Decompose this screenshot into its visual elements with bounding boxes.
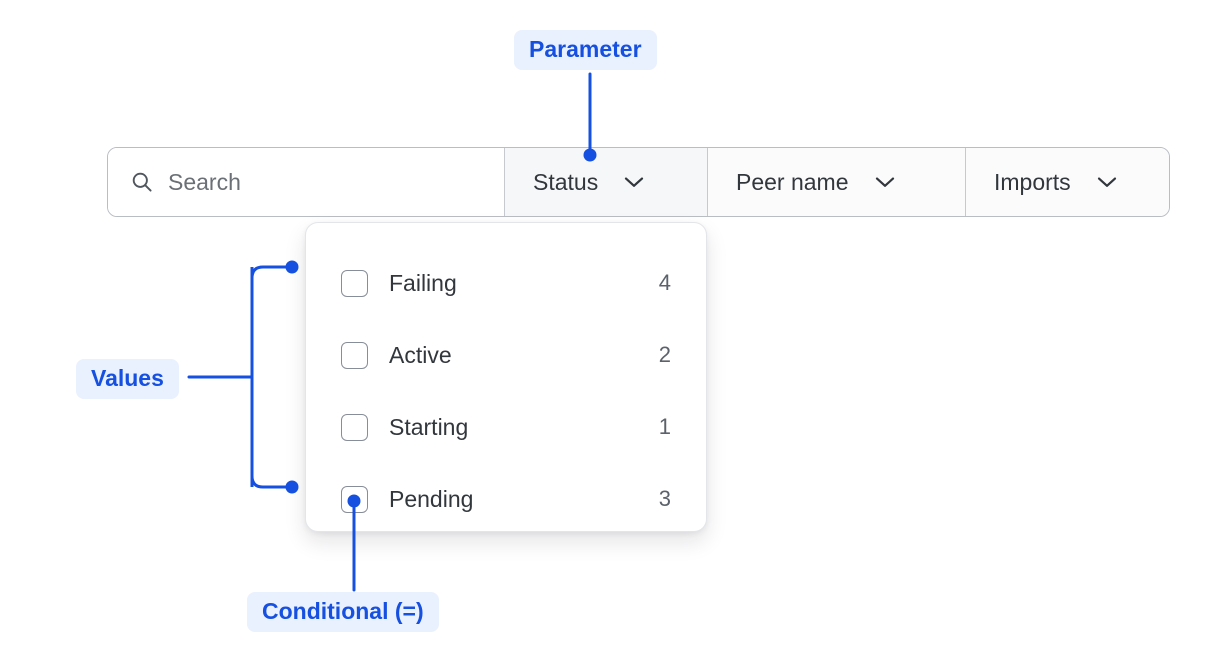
search-field[interactable] [108,148,504,216]
filter-label-imports: Imports [994,169,1071,196]
checkbox-active[interactable] [341,342,368,369]
dropdown-option-failing[interactable]: Failing 4 [306,247,706,319]
search-icon [131,171,153,193]
chevron-down-icon [624,176,644,188]
filter-toolbar: Status Peer name Imports [107,147,1170,217]
annotation-badge-values: Values [76,359,179,399]
dropdown-option-count: 4 [651,270,671,296]
dropdown-option-pending[interactable]: Pending 3 [306,463,706,535]
filter-button-status[interactable]: Status [504,148,707,216]
chevron-down-icon [1097,176,1117,188]
annotation-badge-conditional: Conditional (=) [247,592,439,632]
status-filter-dropdown: Failing 4 Active 2 Starting 1 Pending 3 [305,222,707,532]
filter-label-peer-name: Peer name [736,169,849,196]
checkbox-starting[interactable] [341,414,368,441]
search-input[interactable] [168,169,468,196]
connector-values [189,261,299,494]
filter-button-imports[interactable]: Imports [965,148,1169,216]
filter-button-peer-name[interactable]: Peer name [707,148,965,216]
dropdown-option-starting[interactable]: Starting 1 [306,391,706,463]
dropdown-option-count: 3 [651,486,671,512]
dropdown-option-label: Failing [389,270,651,297]
checkbox-failing[interactable] [341,270,368,297]
dropdown-option-label: Pending [389,486,651,513]
dropdown-option-label: Starting [389,414,651,441]
dropdown-option-count: 2 [651,342,671,368]
annotation-badge-parameter: Parameter [514,30,657,70]
chevron-down-icon [875,176,895,188]
dropdown-option-count: 1 [651,414,671,440]
dropdown-option-active[interactable]: Active 2 [306,319,706,391]
dropdown-option-label: Active [389,342,651,369]
filter-label-status: Status [533,169,598,196]
checkbox-pending[interactable] [341,486,368,513]
